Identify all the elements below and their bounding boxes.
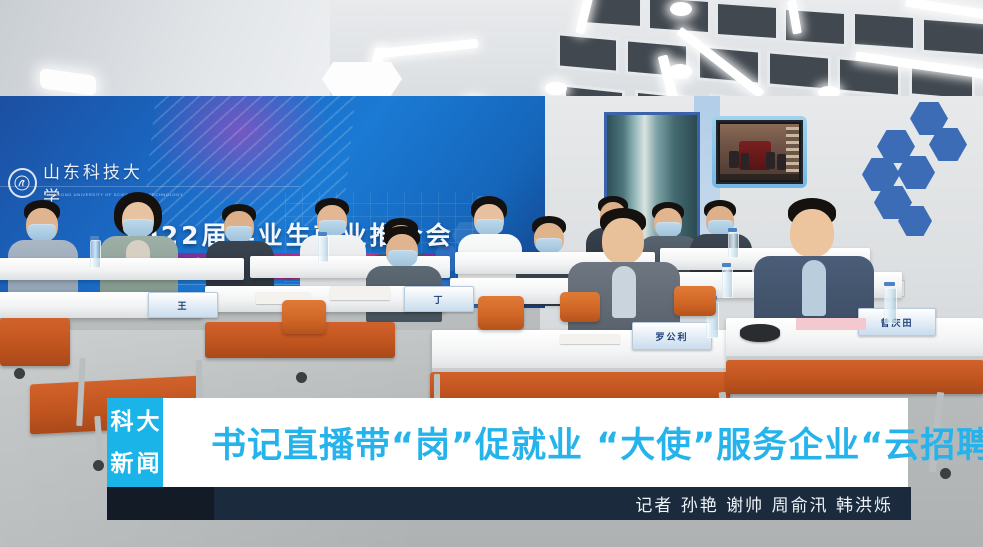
- remote-bookshelf: [786, 127, 799, 172]
- conference-microphone[interactable]: [740, 324, 780, 342]
- name-placard: 丁: [404, 286, 474, 312]
- monitor-screen: [720, 124, 799, 180]
- head: [602, 218, 644, 264]
- hexagon-wall-decor: [850, 100, 983, 230]
- face-mask: [28, 224, 56, 241]
- bottle-cap: [728, 228, 737, 232]
- name-placard-front: 罗公利: [632, 322, 712, 350]
- lower-third-credits-bar: 记者 孙艳 谢帅 周俞汛 韩洪烁: [214, 487, 911, 520]
- badge-char: 科: [109, 401, 135, 443]
- name-placard-text: 王: [177, 299, 188, 312]
- bottle-cap: [722, 263, 731, 267]
- dress-shirt: [802, 260, 826, 316]
- desk-modesty-panel: [726, 360, 983, 394]
- reporter-credits: 记者 孙艳 谢帅 周俞汛 韩洪烁: [635, 491, 893, 516]
- ceiling-downlight: [670, 2, 692, 16]
- university-emblem-icon: [8, 168, 37, 198]
- face-mask: [123, 219, 153, 237]
- badge-char: 大: [135, 401, 161, 443]
- lower-third-headline-bar: 书记直播带“岗”促就业 “大使”服务企业“云招聘”: [163, 398, 908, 487]
- water-bottle: [722, 268, 733, 298]
- monitor-bezel: [716, 120, 803, 184]
- caster-wheel: [940, 468, 951, 479]
- face-mask: [536, 238, 562, 253]
- video-frame: 山东科技大学 SHANDONG UNIVERSITY OF SCIENCE AN…: [0, 0, 983, 547]
- ceiling-downlight: [668, 64, 692, 79]
- remote-participant: [729, 151, 738, 168]
- name-placard-text: 丁: [433, 293, 444, 306]
- ceiling-coffer: [560, 36, 616, 71]
- ceiling-coffer: [855, 14, 913, 48]
- water-bottle: [884, 288, 897, 324]
- water-bottle: [318, 236, 329, 262]
- lower-third-headline: 书记直播带“岗”促就业 “大使”服务企业“云招聘”: [211, 417, 983, 468]
- remote-participant: [741, 153, 750, 169]
- badge-char: 新: [109, 443, 135, 485]
- water-bottle: [728, 232, 739, 258]
- remote-participant: [766, 152, 775, 169]
- chair[interactable]: [674, 286, 716, 316]
- ceiling-light-strip: [905, 0, 983, 24]
- face-mask: [656, 222, 681, 237]
- desk-modesty-panel: [0, 318, 70, 366]
- ceiling-light-strip: [378, 39, 478, 58]
- caster-wheel: [296, 372, 307, 383]
- bottle-cap: [884, 282, 895, 286]
- chair[interactable]: [282, 300, 326, 334]
- ceiling-light-panel: [322, 62, 402, 96]
- desk: [0, 258, 244, 280]
- face-mask: [388, 250, 417, 267]
- caster-wheel: [93, 460, 104, 471]
- caster-wheel: [14, 368, 25, 379]
- notebook: [560, 334, 620, 344]
- dress-shirt: [612, 266, 636, 318]
- bottle-cap: [90, 236, 99, 240]
- remote-participant: [777, 154, 786, 170]
- university-logo-subtitle: SHANDONG UNIVERSITY OF SCIENCE AND TECHN…: [44, 192, 183, 197]
- face-mask: [476, 219, 503, 235]
- head: [790, 209, 834, 257]
- ceiling-coffer: [924, 20, 983, 54]
- name-placard: 王: [148, 292, 218, 318]
- chair[interactable]: [560, 292, 600, 322]
- bottle-cap: [318, 232, 327, 236]
- monitor-ticker: [720, 174, 799, 180]
- ceiling-coffer: [718, 4, 776, 38]
- badge-char: 闻: [135, 443, 161, 485]
- face-mask: [226, 226, 252, 242]
- news-program-badge: 科 大 新 闻: [107, 398, 163, 487]
- chair[interactable]: [478, 296, 524, 330]
- water-bottle: [90, 240, 101, 268]
- ceiling-downlight: [545, 82, 567, 95]
- ceiling-coffer: [585, 0, 640, 26]
- video-conference-display[interactable]: [712, 116, 807, 188]
- notebook: [330, 286, 390, 300]
- name-placard-text: 罗公利: [655, 330, 688, 343]
- document-sheet: [796, 318, 866, 330]
- ceiling-coffer: [770, 53, 828, 88]
- name-placard-front: 曾庆田: [858, 308, 936, 336]
